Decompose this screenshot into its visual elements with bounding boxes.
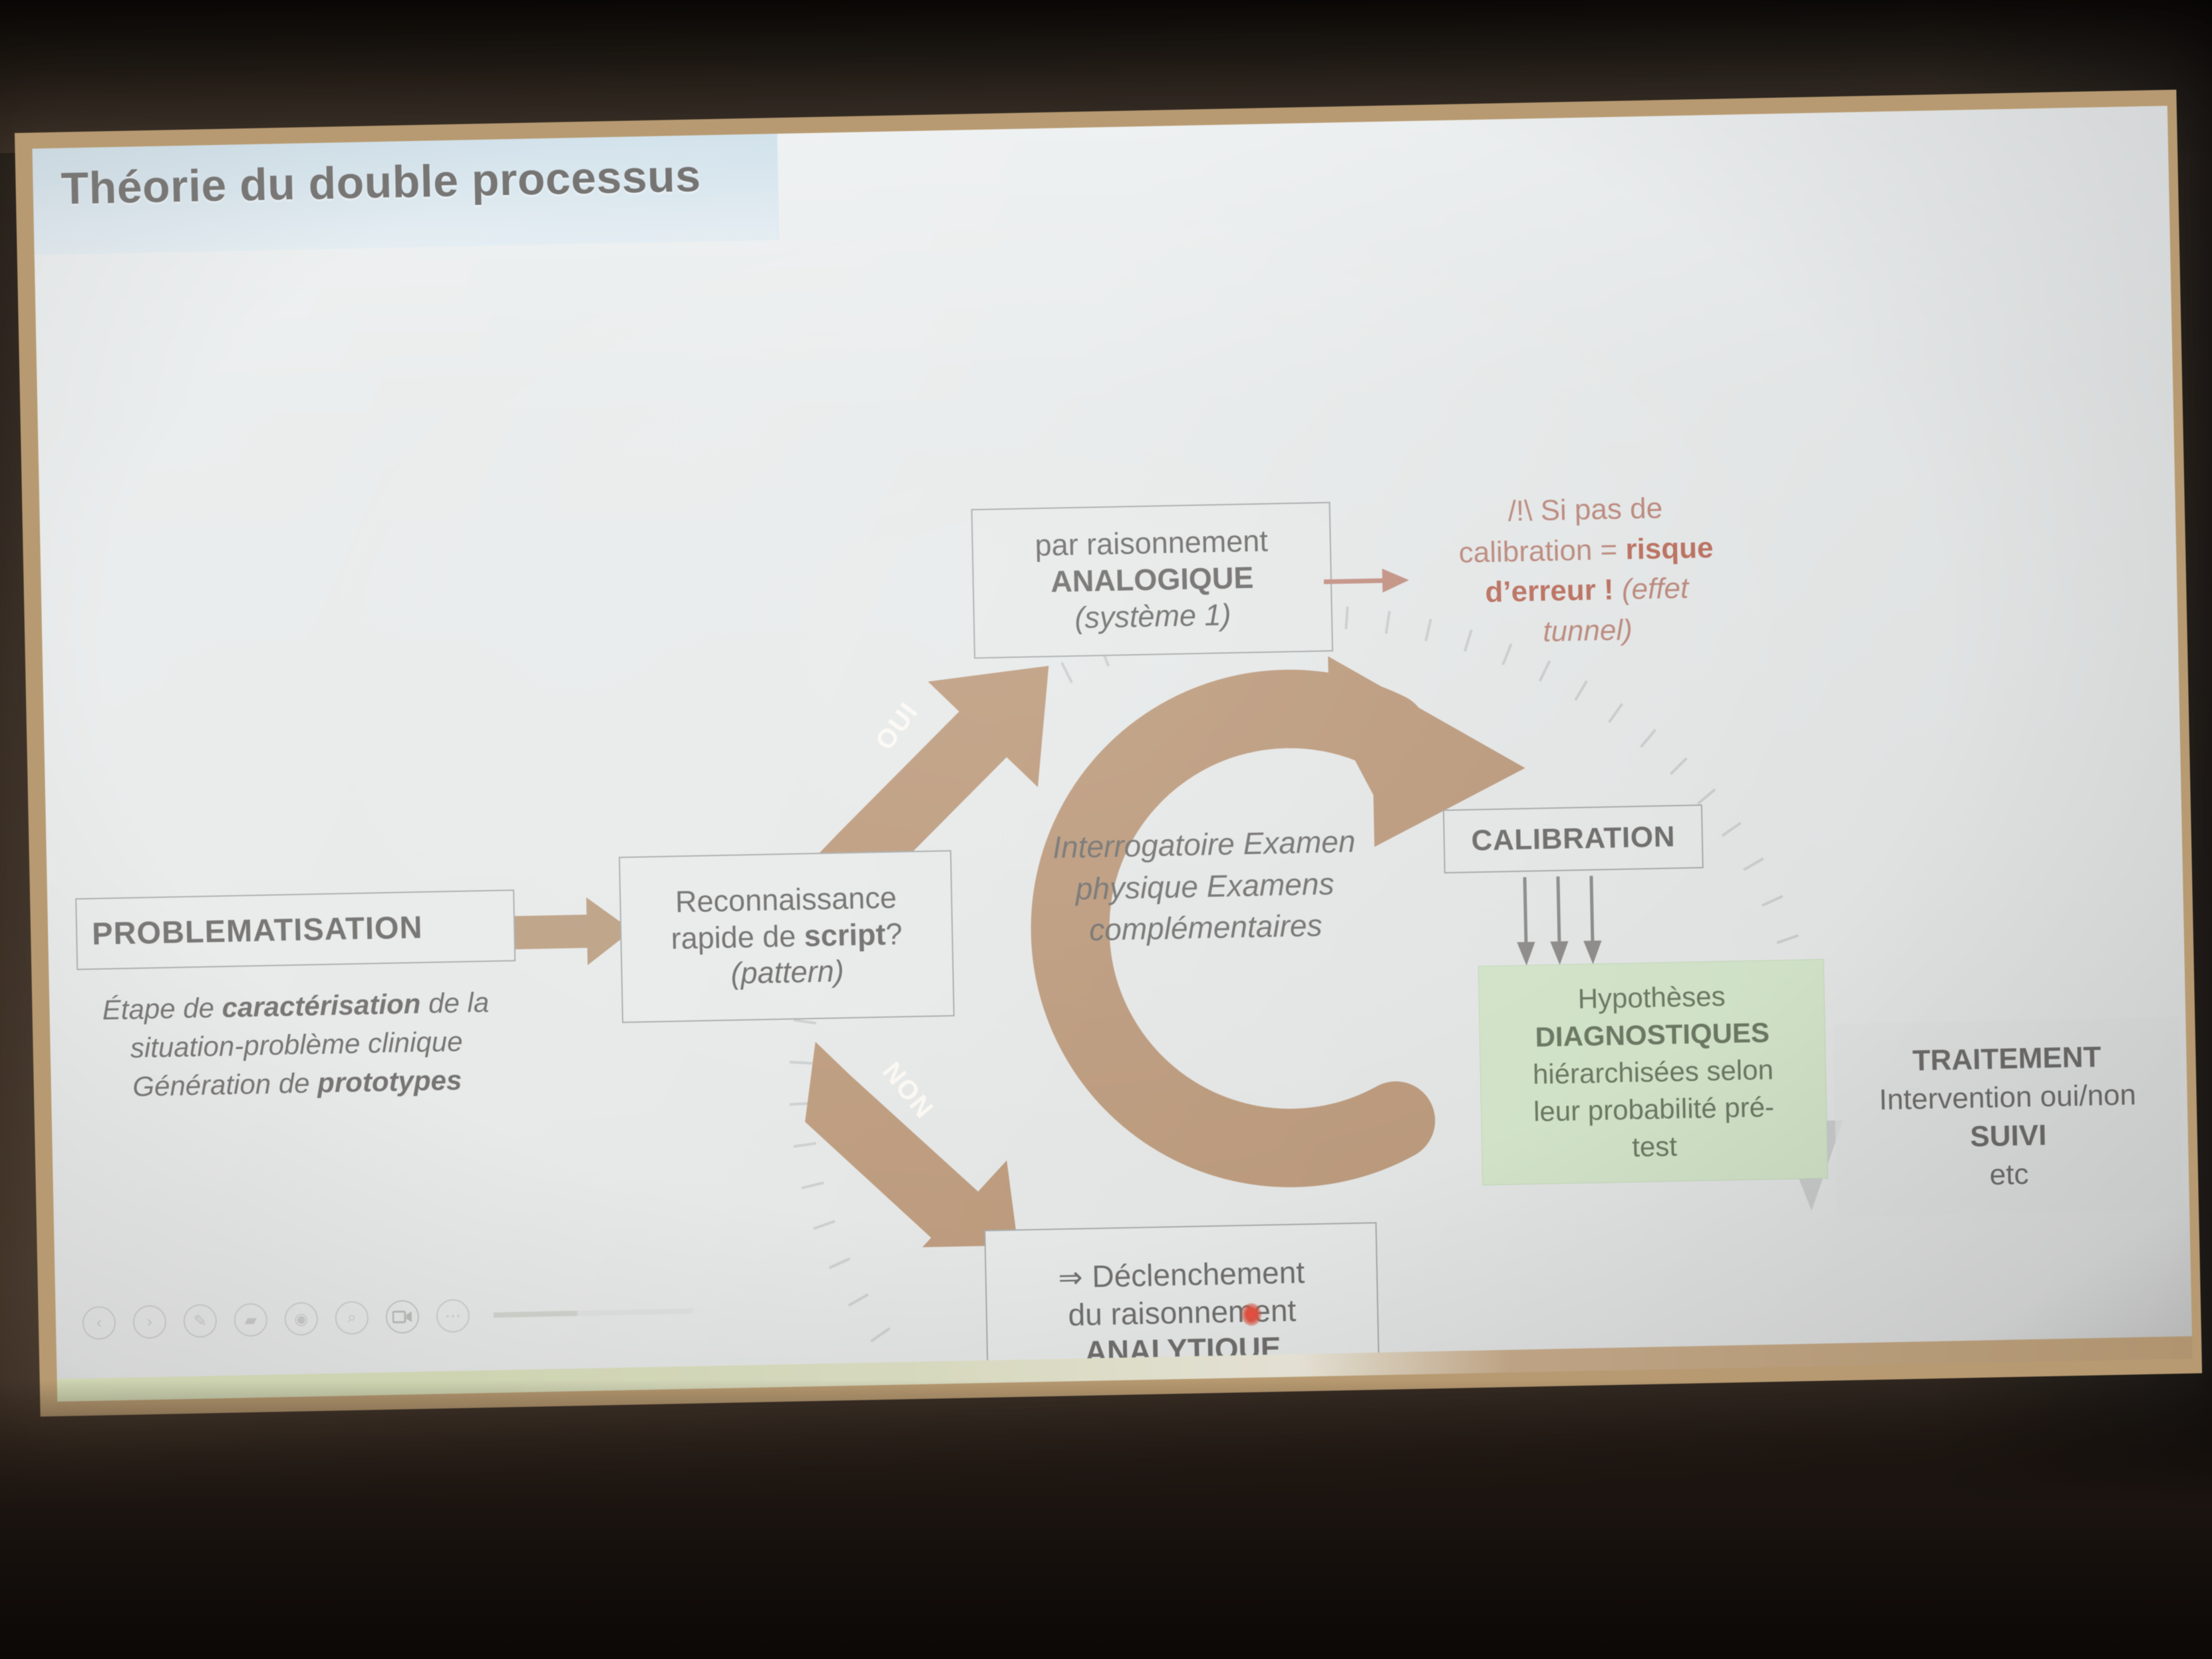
traitement-etc: etc [1989, 1155, 2029, 1195]
calibration-warning-text: /!\ Si pas de calibration = risque d’err… [1442, 487, 1731, 654]
caption-line1-plain: Étape de [102, 992, 214, 1025]
hypotheses-line1: Hypothèses [1577, 978, 1726, 1018]
problematisation-box[interactable]: PROBLEMATISATION [75, 889, 516, 970]
traitement-label: TRAITEMENT [1912, 1038, 2102, 1080]
hypotheses-label: DIAGNOSTIQUES [1535, 1014, 1770, 1056]
analogique-line1: par raisonnement [1034, 523, 1268, 564]
analogique-label: ANALOGIQUE [1050, 560, 1254, 601]
cycle-line4: complémentaires [1089, 908, 1323, 947]
analogique-to-warning-arrow [1323, 560, 1410, 602]
reconnaissance-script-word: script [804, 917, 886, 953]
highlighter-icon[interactable]: ▰ [234, 1303, 267, 1337]
wall-shadow-bottom [0, 1380, 2212, 1659]
pointer-icon[interactable]: ◉ [284, 1302, 318, 1336]
analogique-systeme: (système 1) [1074, 597, 1231, 637]
traitement-suivi: SUIVI [1970, 1116, 2047, 1156]
pen-icon[interactable]: ✎ [183, 1304, 217, 1338]
record-camera-icon [393, 1309, 412, 1324]
cycle-line3: Examens [1206, 866, 1335, 903]
projection-screen: Théorie du double processus OUI [15, 90, 2202, 1417]
double-arrow-icon: ⇒ [1058, 1261, 1083, 1294]
problematisation-to-reconnaissance-arrow [513, 894, 634, 970]
branch-no-arrow [800, 1024, 1084, 1249]
reconnaissance-script-box[interactable]: Reconnaissance rapide de script? (patter… [619, 850, 955, 1023]
record-icon[interactable] [385, 1300, 419, 1334]
calibration-down-arrows [1514, 873, 1623, 968]
traitement-box[interactable]: TRAITEMENT Intervention oui/non SUIVI et… [1833, 1017, 2183, 1217]
reconnaissance-line1: Reconnaissance [675, 879, 897, 921]
reconnaissance-line2-tail: ? [885, 917, 903, 951]
caption-line3: clinique [367, 1026, 462, 1059]
cycle-line1: Interrogatoire [1052, 826, 1235, 864]
slide-progress-bar[interactable] [494, 1308, 693, 1318]
caption-line4: Génération de [132, 1067, 310, 1102]
reconnaissance-line2-plain: rapide de [671, 919, 804, 955]
problematisation-heading: PROBLEMATISATION [92, 908, 423, 953]
problematisation-caption: Étape de caractérisation de la situation… [69, 982, 524, 1107]
reconnaissance-pattern: (pattern) [730, 954, 844, 992]
warning-line1: /!\ Si pas de [1507, 492, 1662, 528]
warning-line2: calibration = [1458, 533, 1617, 569]
hypotheses-line4: leur probabilité pré- [1533, 1088, 1774, 1130]
hypotheses-line5: test [1632, 1128, 1678, 1165]
hypotheses-diagnostiques-box[interactable]: Hypothèses DIAGNOSTIQUES hiérarchisées s… [1478, 959, 1829, 1185]
analytique-line1: Déclenchement [1092, 1255, 1305, 1293]
next-slide-icon[interactable]: › [132, 1305, 166, 1339]
presenter-toolbar[interactable]: ‹ › ✎ ▰ ◉ ⌕ ⋯ [82, 1288, 693, 1346]
traitement-line2: Intervention oui/non [1879, 1076, 2137, 1120]
screenshot-root: Théorie du double processus OUI [0, 0, 2212, 1659]
caption-line1-bold: caractérisation [222, 988, 421, 1023]
hypotheses-line3: hiérarchisées selon [1532, 1051, 1774, 1093]
calibration-label: CALIBRATION [1471, 819, 1675, 859]
slide: Théorie du double processus OUI [32, 106, 2191, 1379]
zoom-icon[interactable]: ⌕ [335, 1301, 369, 1335]
previous-slide-icon[interactable]: ‹ [82, 1306, 116, 1340]
calibration-box[interactable]: CALIBRATION [1443, 804, 1704, 873]
caption-line5: prototypes [317, 1064, 462, 1098]
analytique-line2: du raisonnement [1068, 1291, 1297, 1333]
cycle-center-text: Interrogatoire Examen physique Examens c… [1017, 820, 1392, 953]
more-options-icon[interactable]: ⋯ [436, 1299, 470, 1333]
slide-surface: Théorie du double processus OUI [32, 106, 2191, 1379]
analogique-system1-box[interactable]: par raisonnement ANALOGIQUE (système 1) [971, 502, 1333, 659]
